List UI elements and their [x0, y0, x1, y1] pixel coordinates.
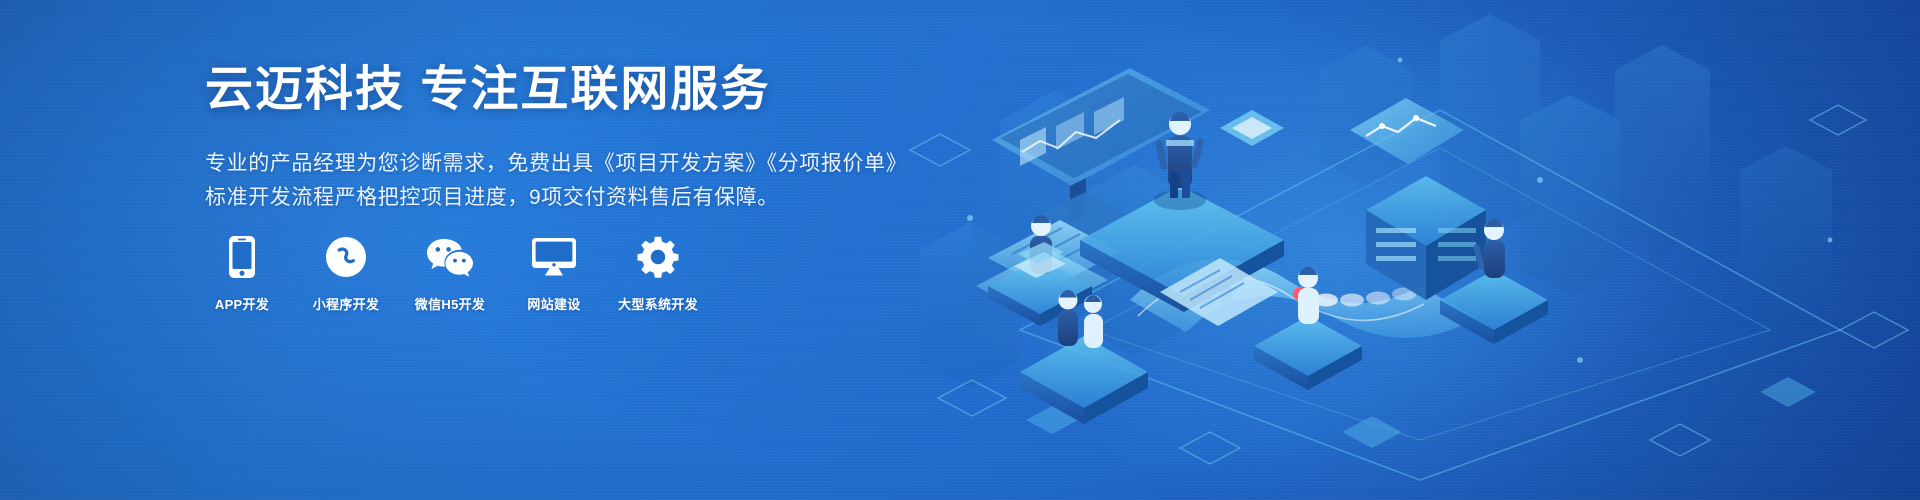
mini-program-icon — [325, 234, 367, 280]
gear-icon — [637, 234, 679, 280]
service-list: APP开发 小程序开发 — [205, 234, 695, 313]
copy-block: 云迈科技 专注互联网服务 专业的产品经理为您诊断需求，免费出具《项目开发方案》《… — [205, 62, 965, 215]
service-label: 网站建设 — [527, 294, 580, 313]
isometric-illustration — [880, 0, 1920, 500]
wechat-icon — [425, 234, 475, 280]
mobile-phone-icon — [228, 234, 256, 280]
service-label: 微信H5开发 — [415, 294, 485, 313]
service-label: APP开发 — [215, 294, 269, 313]
page-title: 云迈科技 专注互联网服务 — [205, 62, 965, 117]
service-label: 大型系统开发 — [618, 294, 698, 313]
service-item-website[interactable]: 网站建设 — [517, 234, 591, 313]
subtitle-line-2: 标准开发流程严格把控项目进度，9项交付资料售后有保障。 — [205, 181, 965, 215]
service-item-large-system[interactable]: 大型系统开发 — [621, 234, 695, 313]
subtitle-line-1: 专业的产品经理为您诊断需求，免费出具《项目开发方案》《分项报价单》 — [205, 147, 965, 181]
subtitle-block: 专业的产品经理为您诊断需求，免费出具《项目开发方案》《分项报价单》 标准开发流程… — [205, 147, 965, 215]
service-item-wechat-h5[interactable]: 微信H5开发 — [413, 234, 487, 313]
service-label: 小程序开发 — [313, 294, 380, 313]
promo-banner: 云迈科技 专注互联网服务 专业的产品经理为您诊断需求，免费出具《项目开发方案》《… — [0, 0, 1920, 500]
badge-card — [1220, 110, 1284, 146]
monitor-icon — [531, 234, 577, 280]
illustration-panel — [880, 0, 1920, 500]
service-item-mini-program[interactable]: 小程序开发 — [309, 234, 383, 313]
service-item-app[interactable]: APP开发 — [205, 234, 279, 313]
